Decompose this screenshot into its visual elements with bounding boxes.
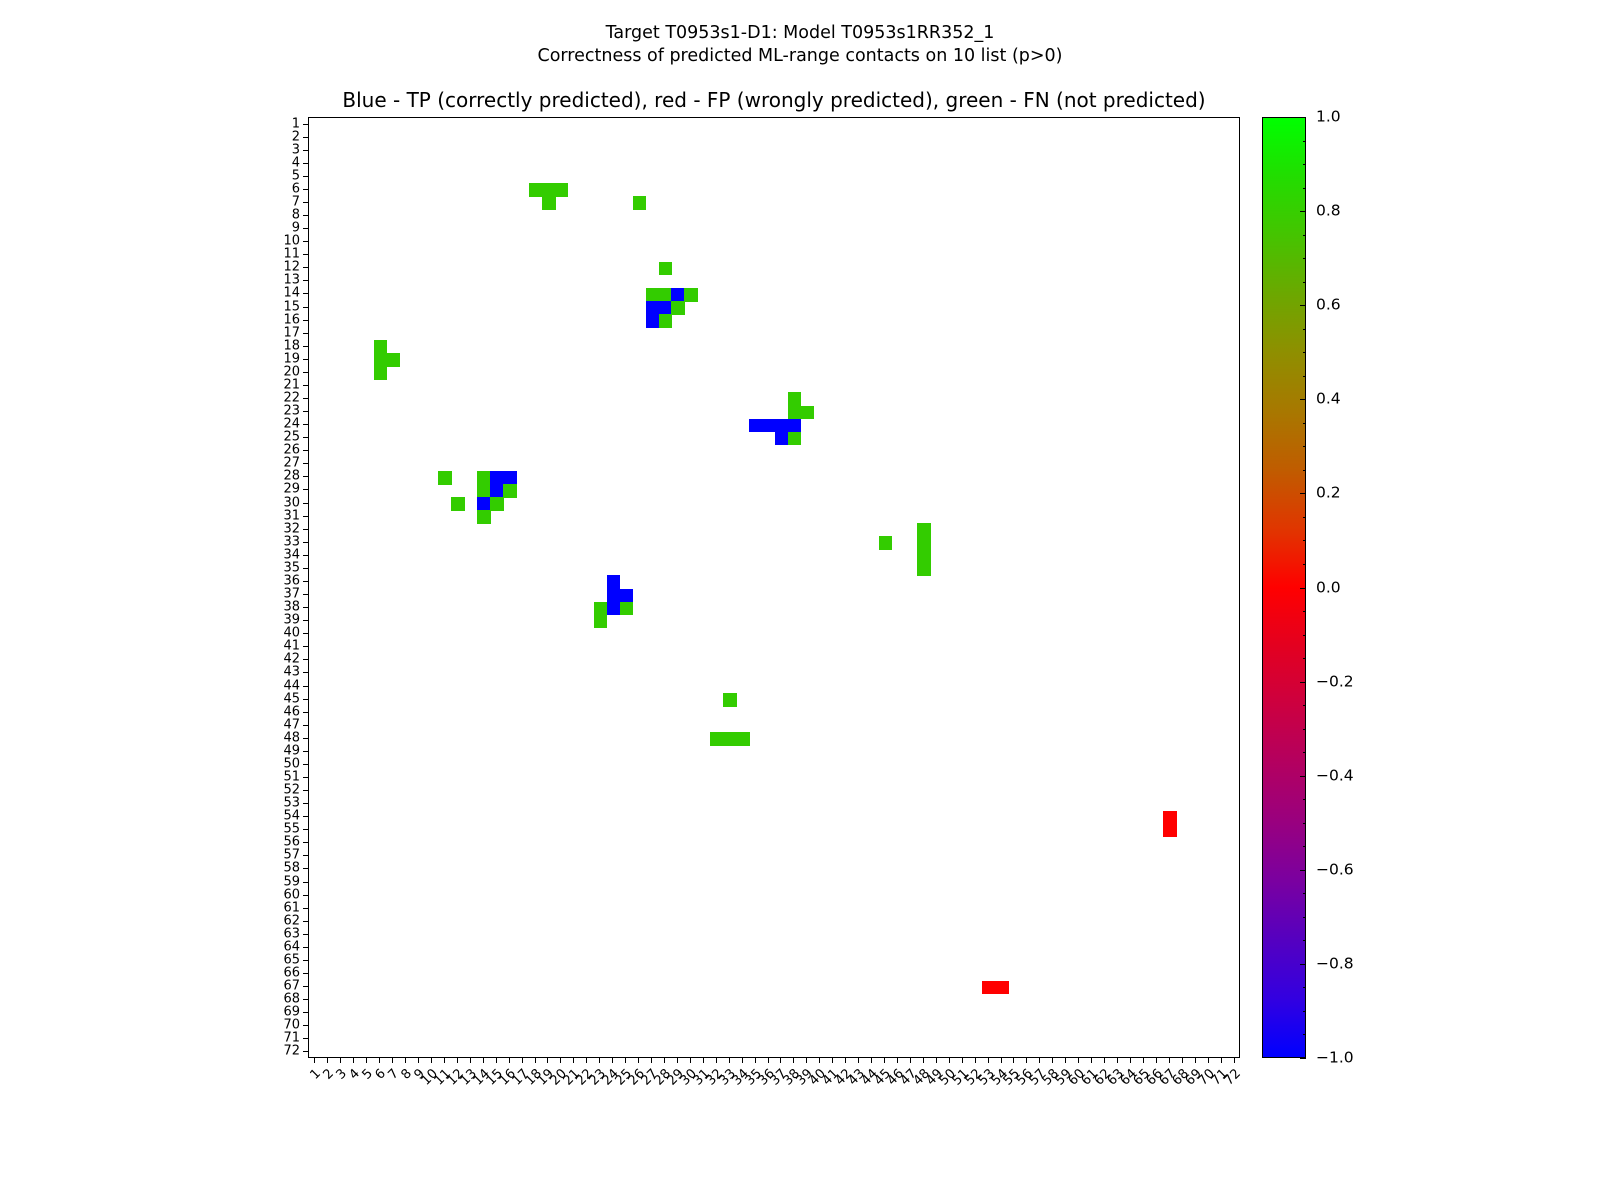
y-tick-mark — [303, 594, 308, 595]
contact-cell-tp — [762, 419, 776, 433]
contact-cell-tp — [607, 602, 621, 616]
y-tick-mark — [303, 816, 308, 817]
x-tick-mark — [535, 1058, 536, 1063]
y-tick-label: 57 — [283, 849, 300, 862]
y-tick-mark — [303, 633, 308, 634]
x-tick-mark — [1078, 1058, 1079, 1063]
y-tick-mark — [303, 868, 308, 869]
contact-cell-fn — [736, 732, 750, 746]
colorbar-minor-tick — [1303, 517, 1306, 518]
x-tick-mark — [586, 1058, 587, 1063]
contact-cell-fn — [917, 523, 931, 537]
x-tick-mark — [755, 1058, 756, 1063]
y-tick-label: 54 — [283, 810, 300, 823]
y-tick-label: 7 — [292, 195, 300, 208]
suptitle-line-1: Target T0953s1-D1: Model T0953s1RR352_1 — [0, 22, 1600, 45]
contact-cell-fn — [374, 340, 388, 354]
y-tick-mark — [303, 725, 308, 726]
colorbar-tick-label: −0.6 — [1316, 862, 1354, 878]
y-tick-mark — [303, 1025, 308, 1026]
x-tick-mark — [1001, 1058, 1002, 1063]
colorbar-tick-mark — [1300, 870, 1306, 871]
colorbar-tick-mark — [1300, 682, 1306, 683]
y-tick-label: 34 — [283, 548, 300, 561]
y-tick-mark — [303, 764, 308, 765]
colorbar-minor-tick — [1303, 282, 1306, 283]
y-tick-label: 20 — [283, 365, 300, 378]
y-tick-label: 37 — [283, 588, 300, 601]
y-tick-mark — [303, 646, 308, 647]
y-tick-label: 46 — [283, 705, 300, 718]
y-tick-mark — [303, 934, 308, 935]
y-tick-mark — [303, 150, 308, 151]
x-tick-mark — [949, 1058, 950, 1063]
y-tick-label: 32 — [283, 522, 300, 535]
y-tick-label: 33 — [283, 535, 300, 548]
x-tick-mark — [340, 1058, 341, 1063]
colorbar-tick-mark — [1300, 493, 1306, 494]
y-tick-label: 22 — [283, 391, 300, 404]
y-tick-label: 31 — [283, 509, 300, 522]
x-tick-mark — [962, 1058, 963, 1063]
contact-cell-fn — [646, 288, 660, 302]
colorbar-minor-tick — [1303, 940, 1306, 941]
y-tick-mark — [303, 424, 308, 425]
contact-cell-fn — [671, 301, 685, 315]
contact-cell-fn — [788, 392, 802, 406]
y-tick-mark — [303, 293, 308, 294]
y-tick-mark — [303, 672, 308, 673]
y-tick-label: 23 — [283, 405, 300, 418]
y-tick-label: 11 — [283, 248, 300, 261]
y-tick-label: 6 — [292, 182, 300, 195]
colorbar-tick-mark — [1300, 117, 1306, 118]
y-tick-mark — [303, 359, 308, 360]
x-tick-mark — [418, 1058, 419, 1063]
y-tick-label: 49 — [283, 744, 300, 757]
y-tick-label: 16 — [283, 313, 300, 326]
colorbar-minor-tick — [1303, 376, 1306, 377]
contact-cell-tp — [775, 419, 789, 433]
colorbar-tick-label: −0.8 — [1316, 956, 1354, 972]
y-tick-label: 18 — [283, 339, 300, 352]
contact-cell-fn — [477, 471, 491, 485]
x-tick-mark — [1013, 1058, 1014, 1063]
contact-cell-fn — [879, 536, 893, 550]
y-tick-label: 10 — [283, 235, 300, 248]
colorbar-minor-tick — [1303, 823, 1306, 824]
y-tick-mark — [303, 228, 308, 229]
x-tick-mark — [1221, 1058, 1222, 1063]
y-tick-label: 69 — [283, 1006, 300, 1019]
y-tick-label: 27 — [283, 457, 300, 470]
x-tick-mark — [651, 1058, 652, 1063]
colorbar-ticks: 1.00.80.60.40.20.0−0.2−0.4−0.6−0.8−1.0 — [1262, 117, 1382, 1058]
colorbar-tick-label: 0.8 — [1316, 203, 1341, 219]
colorbar-tick-mark — [1300, 588, 1306, 589]
y-tick-label: 21 — [283, 378, 300, 391]
x-tick-mark — [405, 1058, 406, 1063]
y-tick-mark — [303, 254, 308, 255]
y-tick-label: 45 — [283, 692, 300, 705]
y-tick-mark — [303, 176, 308, 177]
y-tick-mark — [303, 1038, 308, 1039]
y-tick-label: 4 — [292, 156, 300, 169]
x-tick-mark — [1208, 1058, 1209, 1063]
colorbar-tick-label: −1.0 — [1316, 1050, 1354, 1066]
x-tick-mark — [638, 1058, 639, 1063]
x-tick-mark — [742, 1058, 743, 1063]
y-tick-mark — [303, 686, 308, 687]
y-tick-mark — [303, 346, 308, 347]
x-tick-mark — [1039, 1058, 1040, 1063]
contact-cell-tp — [607, 589, 621, 603]
y-tick-mark — [303, 699, 308, 700]
x-tick-mark — [1234, 1058, 1235, 1063]
contact-cell-fn — [801, 406, 815, 420]
y-tick-label: 12 — [283, 261, 300, 274]
x-tick-mark — [1065, 1058, 1066, 1063]
y-tick-label: 2 — [292, 130, 300, 143]
contact-cell-tp — [620, 589, 634, 603]
colorbar-minor-tick — [1303, 141, 1306, 142]
contact-cell-tp — [490, 471, 504, 485]
contact-cell-fn — [633, 196, 647, 210]
y-tick-label: 63 — [283, 927, 300, 940]
x-tick-mark — [599, 1058, 600, 1063]
y-tick-mark — [303, 555, 308, 556]
y-tick-label: 66 — [283, 967, 300, 980]
y-tick-label: 67 — [283, 980, 300, 993]
x-tick-mark — [768, 1058, 769, 1063]
x-tick-mark — [871, 1058, 872, 1063]
x-tick-mark — [690, 1058, 691, 1063]
x-tick-mark — [1104, 1058, 1105, 1063]
y-tick-mark — [303, 333, 308, 334]
colorbar-minor-tick — [1303, 611, 1306, 612]
x-tick-mark — [703, 1058, 704, 1063]
y-tick-mark — [303, 398, 308, 399]
y-tick-label: 17 — [283, 326, 300, 339]
colorbar-minor-tick — [1303, 799, 1306, 800]
x-tick-mark — [457, 1058, 458, 1063]
colorbar-minor-tick — [1303, 470, 1306, 471]
contact-map-cells — [309, 118, 1241, 1059]
y-tick-mark — [303, 437, 308, 438]
y-tick-label: 68 — [283, 993, 300, 1006]
x-tick-mark — [729, 1058, 730, 1063]
y-tick-label: 56 — [283, 836, 300, 849]
colorbar-minor-tick — [1303, 893, 1306, 894]
y-tick-label: 61 — [283, 901, 300, 914]
x-tick-mark — [677, 1058, 678, 1063]
y-tick-mark — [303, 463, 308, 464]
y-tick-mark — [303, 476, 308, 477]
y-tick-label: 59 — [283, 875, 300, 888]
x-tick-mark — [1117, 1058, 1118, 1063]
x-tick-mark — [1195, 1058, 1196, 1063]
y-tick-mark — [303, 842, 308, 843]
x-tick-mark — [923, 1058, 924, 1063]
colorbar-minor-tick — [1303, 188, 1306, 189]
y-tick-mark — [303, 895, 308, 896]
x-tick-mark — [353, 1058, 354, 1063]
colorbar-minor-tick — [1303, 987, 1306, 988]
colorbar-minor-tick — [1303, 658, 1306, 659]
y-tick-mark — [303, 790, 308, 791]
x-tick-mark — [483, 1058, 484, 1063]
x-tick-mark — [612, 1058, 613, 1063]
y-tick-label: 70 — [283, 1019, 300, 1032]
colorbar-tick-label: −0.2 — [1316, 674, 1354, 690]
contact-cell-fn — [723, 732, 737, 746]
y-tick-mark — [303, 503, 308, 504]
contact-cell-tp — [788, 419, 802, 433]
contact-cell-tp — [646, 314, 660, 328]
contact-cell-fn — [594, 602, 608, 616]
y-tick-label: 25 — [283, 431, 300, 444]
y-tick-label: 24 — [283, 418, 300, 431]
x-tick-mark — [625, 1058, 626, 1063]
y-tick-label: 39 — [283, 614, 300, 627]
y-tick-mark — [303, 1012, 308, 1013]
colorbar-minor-tick — [1303, 917, 1306, 918]
y-tick-label: 50 — [283, 757, 300, 770]
y-tick-mark — [303, 202, 308, 203]
y-tick-label: 65 — [283, 953, 300, 966]
x-tick-mark — [379, 1058, 380, 1063]
colorbar-minor-tick — [1303, 705, 1306, 706]
colorbar-minor-tick — [1303, 164, 1306, 165]
x-tick-mark — [845, 1058, 846, 1063]
y-tick-mark — [303, 855, 308, 856]
x-tick-mark — [936, 1058, 937, 1063]
y-tick-mark — [303, 882, 308, 883]
x-tick-mark — [832, 1058, 833, 1063]
y-tick-mark — [303, 215, 308, 216]
contact-cell-fn — [387, 353, 401, 367]
colorbar-tick-label: 1.0 — [1316, 109, 1341, 125]
y-tick-mark — [303, 241, 308, 242]
contact-cell-tp — [477, 497, 491, 511]
contact-cell-tp — [659, 301, 673, 315]
colorbar-tick-mark — [1300, 776, 1306, 777]
y-tick-mark — [303, 777, 308, 778]
y-tick-mark — [303, 163, 308, 164]
y-tick-mark — [303, 607, 308, 608]
contact-cell-fn — [917, 549, 931, 563]
colorbar-tick-mark — [1300, 1058, 1306, 1059]
x-tick-mark — [1156, 1058, 1157, 1063]
x-tick-mark — [858, 1058, 859, 1063]
y-tick-mark — [303, 908, 308, 909]
colorbar-minor-tick — [1303, 446, 1306, 447]
contact-cell-fn — [659, 288, 673, 302]
x-tick-mark — [975, 1058, 976, 1063]
y-tick-label: 19 — [283, 352, 300, 365]
y-tick-label: 41 — [283, 640, 300, 653]
colorbar-minor-tick — [1303, 423, 1306, 424]
contact-cell-fn — [620, 602, 634, 616]
x-tick-mark — [806, 1058, 807, 1063]
contact-cell-tp — [607, 575, 621, 589]
contact-cell-fn — [723, 693, 737, 707]
y-tick-label: 14 — [283, 287, 300, 300]
colorbar-minor-tick — [1303, 729, 1306, 730]
y-tick-mark — [303, 516, 308, 517]
y-tick-mark — [303, 751, 308, 752]
y-tick-label: 71 — [283, 1032, 300, 1045]
y-tick-mark — [303, 385, 308, 386]
x-tick-mark — [793, 1058, 794, 1063]
y-tick-label: 64 — [283, 940, 300, 953]
y-tick-label: 36 — [283, 574, 300, 587]
contact-cell-fn — [477, 484, 491, 498]
y-tick-label: 8 — [292, 209, 300, 222]
contact-cell-tp — [646, 301, 660, 315]
contact-cell-fp — [995, 981, 1009, 995]
y-tick-mark — [303, 973, 308, 974]
y-tick-label: 53 — [283, 797, 300, 810]
y-tick-label: 51 — [283, 771, 300, 784]
y-tick-mark — [303, 1051, 308, 1052]
y-tick-label: 48 — [283, 731, 300, 744]
colorbar-minor-tick — [1303, 635, 1306, 636]
y-tick-mark — [303, 529, 308, 530]
x-tick-mark — [547, 1058, 548, 1063]
y-tick-label: 38 — [283, 601, 300, 614]
y-tick-label: 43 — [283, 666, 300, 679]
x-tick-mark — [897, 1058, 898, 1063]
colorbar-tick-label: 0.6 — [1316, 297, 1341, 313]
colorbar-tick-label: 0.0 — [1316, 580, 1341, 596]
y-tick-label: 60 — [283, 888, 300, 901]
contact-cell-fn — [555, 183, 569, 197]
y-tick-label: 26 — [283, 444, 300, 457]
y-tick-label: 58 — [283, 862, 300, 875]
contact-cell-tp — [749, 419, 763, 433]
contact-cell-fn — [684, 288, 698, 302]
contact-cell-tp — [671, 288, 685, 302]
colorbar-tick-mark — [1300, 399, 1306, 400]
x-tick-mark — [327, 1058, 328, 1063]
contact-cell-fn — [477, 510, 491, 524]
y-tick-mark — [303, 372, 308, 373]
y-tick-label: 47 — [283, 718, 300, 731]
contact-cell-fp — [982, 981, 996, 995]
y-tick-mark — [303, 280, 308, 281]
y-tick-mark — [303, 999, 308, 1000]
colorbar-tick-label: 0.4 — [1316, 392, 1341, 408]
x-tick-mark — [1026, 1058, 1027, 1063]
x-tick-mark — [560, 1058, 561, 1063]
y-tick-mark — [303, 659, 308, 660]
y-tick-mark — [303, 307, 308, 308]
x-tick-mark — [910, 1058, 911, 1063]
colorbar-tick-mark — [1300, 211, 1306, 212]
contact-cell-fn — [542, 196, 556, 210]
y-tick-label: 55 — [283, 823, 300, 836]
contact-cell-fn — [788, 432, 802, 446]
contact-cell-fn — [374, 366, 388, 380]
y-tick-mark — [303, 738, 308, 739]
colorbar-minor-tick — [1303, 540, 1306, 541]
x-tick-mark — [884, 1058, 885, 1063]
contact-cell-tp — [775, 432, 789, 446]
x-tick-mark — [716, 1058, 717, 1063]
contact-cell-fn — [788, 406, 802, 420]
y-tick-mark — [303, 921, 308, 922]
x-tick-mark — [314, 1058, 315, 1063]
y-tick-mark — [303, 137, 308, 138]
contact-cell-fp — [1163, 811, 1177, 825]
x-axis: 1234567891011121314151617181920212223242… — [308, 1058, 1240, 1168]
contact-cell-fn — [503, 484, 517, 498]
y-tick-label: 1 — [292, 117, 300, 130]
colorbar-minor-tick — [1303, 1011, 1306, 1012]
contact-cell-fn — [451, 497, 465, 511]
contact-cell-tp — [503, 471, 517, 485]
x-tick-mark — [392, 1058, 393, 1063]
y-tick-label: 62 — [283, 914, 300, 927]
y-tick-mark — [303, 568, 308, 569]
contact-cell-fn — [659, 314, 673, 328]
colorbar-tick-label: −0.4 — [1316, 768, 1354, 784]
colorbar-minor-tick — [1303, 329, 1306, 330]
contact-cell-fn — [659, 262, 673, 276]
contact-map-plot-area[interactable] — [308, 117, 1240, 1058]
x-tick-mark — [819, 1058, 820, 1063]
y-tick-mark — [303, 986, 308, 987]
x-tick-mark — [470, 1058, 471, 1063]
axes-title: Blue - TP (correctly predicted), red - F… — [308, 88, 1240, 112]
y-tick-mark — [303, 712, 308, 713]
contact-cell-fn — [374, 353, 388, 367]
y-tick-mark — [303, 829, 308, 830]
x-tick-mark — [573, 1058, 574, 1063]
y-tick-mark — [303, 960, 308, 961]
y-tick-label: 42 — [283, 653, 300, 666]
x-tick-mark — [522, 1058, 523, 1063]
contact-cell-fn — [917, 562, 931, 576]
y-tick-mark — [303, 947, 308, 948]
y-tick-mark — [303, 803, 308, 804]
x-tick-mark — [1091, 1058, 1092, 1063]
colorbar-tick-label: 0.2 — [1316, 486, 1341, 502]
colorbar-minor-tick — [1303, 1034, 1306, 1035]
y-tick-mark — [303, 320, 308, 321]
contact-cell-fn — [710, 732, 724, 746]
y-tick-mark — [303, 542, 308, 543]
y-tick-label: 29 — [283, 483, 300, 496]
y-axis: 1234567891011121314151617181920212223242… — [248, 117, 308, 1058]
y-tick-mark — [303, 189, 308, 190]
y-tick-mark — [303, 124, 308, 125]
x-tick-mark — [509, 1058, 510, 1063]
contact-cell-tp — [490, 484, 504, 498]
y-tick-label: 52 — [283, 784, 300, 797]
x-tick-mark — [496, 1058, 497, 1063]
contact-cell-fn — [529, 183, 543, 197]
colorbar-minor-tick — [1303, 846, 1306, 847]
y-tick-mark — [303, 267, 308, 268]
figure-suptitle: Target T0953s1-D1: Model T0953s1RR352_1 … — [0, 22, 1600, 68]
colorbar-minor-tick — [1303, 564, 1306, 565]
suptitle-line-2: Correctness of predicted ML-range contac… — [0, 45, 1600, 68]
colorbar-minor-tick — [1303, 752, 1306, 753]
y-tick-label: 9 — [292, 222, 300, 235]
x-tick-mark — [664, 1058, 665, 1063]
